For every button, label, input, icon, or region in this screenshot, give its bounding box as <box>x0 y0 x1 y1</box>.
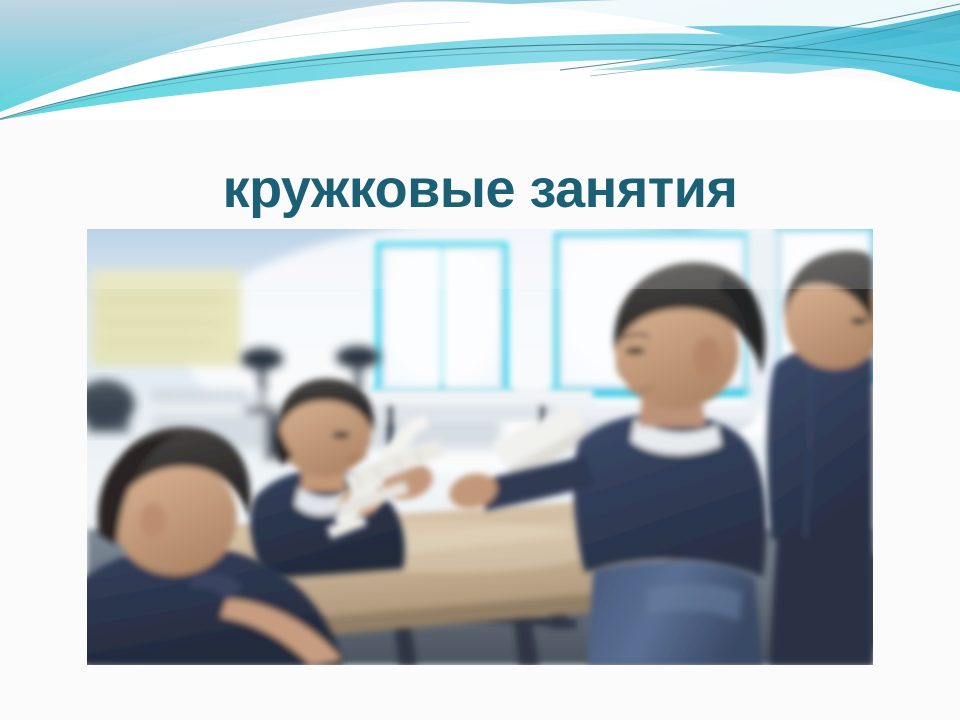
wave-white-arc <box>0 0 960 120</box>
classroom-photo-graphic <box>87 229 873 665</box>
wave-ribbon-mid <box>0 34 960 120</box>
page-title: кружковые занятия <box>223 160 738 219</box>
photo-vignette-top <box>87 229 873 289</box>
wave-white-lower <box>0 70 960 120</box>
wave-hairline-1 <box>0 44 960 119</box>
classroom-photo <box>87 229 873 665</box>
slide-header-decoration <box>0 0 960 120</box>
presentation-slide: кружковые занятия <box>0 0 960 720</box>
photo-haze <box>87 229 873 665</box>
wave-hairline-5 <box>0 22 470 92</box>
wave-sky-layer <box>0 0 960 98</box>
wave-hairline-2 <box>0 50 960 120</box>
wave-hairline-4 <box>590 14 960 76</box>
wave-left-block <box>0 0 420 112</box>
wave-hairline-3 <box>560 4 960 70</box>
wave-ribbon-right <box>560 10 960 74</box>
wave-ribbon-right-2 <box>540 24 960 88</box>
wave-banner-graphic <box>0 0 960 120</box>
